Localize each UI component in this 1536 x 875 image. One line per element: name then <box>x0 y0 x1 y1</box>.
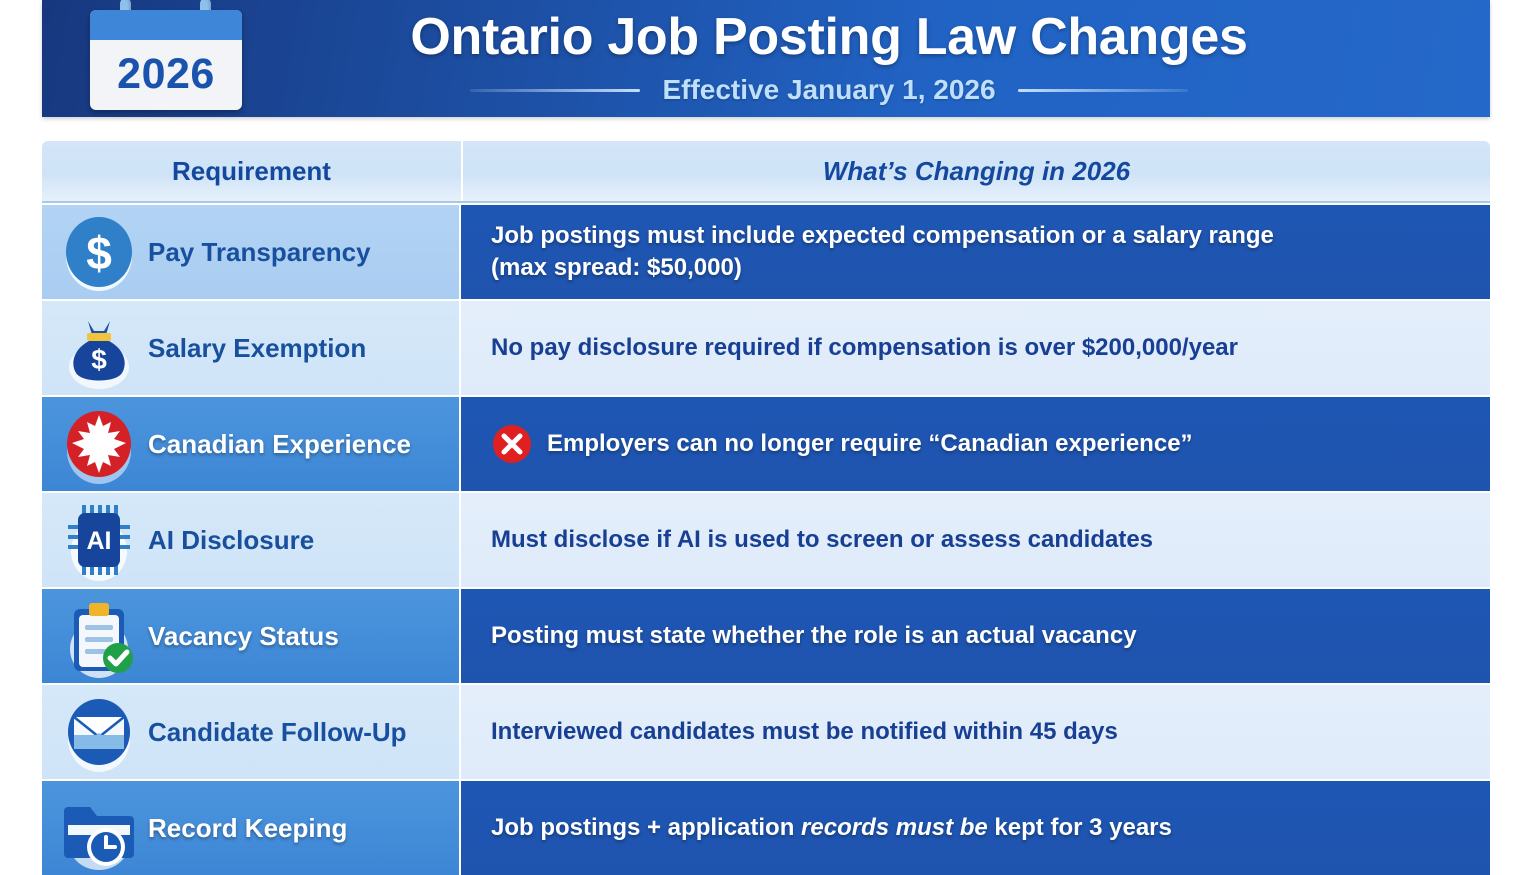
page-subtitle: Effective January 1, 2026 <box>662 74 995 106</box>
requirement-cell: Record Keeping <box>42 781 461 875</box>
red-x-icon <box>491 423 533 465</box>
table-header-row: Requirement What’s Changing in 2026 <box>42 141 1490 203</box>
requirement-cell: $ Pay Transparency <box>42 205 461 299</box>
table-row: $ Pay TransparencyJob postings must incl… <box>42 205 1490 299</box>
requirement-label: AI Disclosure <box>148 526 314 555</box>
table-row: Candidate Follow-UpInterviewed candidate… <box>42 685 1490 779</box>
requirement-cell: Canadian Experience <box>42 397 461 491</box>
change-description-inner: Posting must state whether the role is a… <box>491 620 1137 652</box>
requirement-cell: Vacancy Status <box>42 589 461 683</box>
table-row: Canadian Experience Employers can no lon… <box>42 397 1490 491</box>
calendar-badge: 2026 <box>90 10 242 110</box>
change-description-text: No pay disclosure required if compensati… <box>491 332 1238 364</box>
requirement-label: Vacancy Status <box>148 622 339 651</box>
requirement-label: Record Keeping <box>148 814 347 843</box>
maple-leaf-icon <box>56 401 142 487</box>
calendar-year-label: 2026 <box>90 40 242 110</box>
subtitle-rule-right <box>1018 89 1188 92</box>
change-description-text: Employers can no longer require “Canadia… <box>547 428 1193 460</box>
change-description-text: Must disclose if AI is used to screen or… <box>491 524 1153 556</box>
column-header-requirement-label: Requirement <box>172 156 331 187</box>
change-description-text: Posting must state whether the role is a… <box>491 620 1137 652</box>
change-description-cell: Interviewed candidates must be notified … <box>461 685 1490 779</box>
requirements-table: Requirement What’s Changing in 2026 $ Pa… <box>42 141 1490 875</box>
svg-text:AI: AI <box>87 527 112 555</box>
infographic-page: 2026 Ontario Job Posting Law Changes Eff… <box>0 0 1536 868</box>
change-description-line1: Job postings must include expected compe… <box>491 220 1274 252</box>
table-row: AI AI DisclosureMust disclose if AI is u… <box>42 493 1490 587</box>
change-description-cell: No pay disclosure required if compensati… <box>461 301 1490 395</box>
change-description-text: Interviewed candidates must be notified … <box>491 716 1118 748</box>
change-description-text: Job postings + application records must … <box>491 812 1172 844</box>
table-row: Record KeepingJob postings + application… <box>42 781 1490 875</box>
requirement-cell: Candidate Follow-Up <box>42 685 461 779</box>
requirement-label: Pay Transparency <box>148 238 371 267</box>
requirement-cell: AI AI Disclosure <box>42 493 461 587</box>
requirement-cell: $ Salary Exemption <box>42 301 461 395</box>
change-description-line1: No pay disclosure required if compensati… <box>491 332 1238 364</box>
change-description-line1: Interviewed candidates must be notified … <box>491 716 1118 748</box>
change-description-line2: (max spread: $50,000) <box>491 252 1274 284</box>
change-description-text: Job postings must include expected compe… <box>491 220 1274 283</box>
envelope-icon <box>56 689 142 775</box>
change-description-cell: Must disclose if AI is used to screen or… <box>461 493 1490 587</box>
change-description-inner: Employers can no longer require “Canadia… <box>491 423 1193 465</box>
table-body: $ Pay TransparencyJob postings must incl… <box>42 205 1490 875</box>
change-description-inner: Job postings must include expected compe… <box>491 220 1274 283</box>
page-title: Ontario Job Posting Law Changes <box>410 11 1247 64</box>
svg-text:$: $ <box>86 227 112 279</box>
column-header-requirement: Requirement <box>42 141 463 201</box>
change-description-cell: Posting must state whether the role is a… <box>461 589 1490 683</box>
ai-chip-icon: AI <box>56 497 142 583</box>
clipboard-check-icon <box>56 593 142 679</box>
table-row: Vacancy StatusPosting must state whether… <box>42 589 1490 683</box>
header-banner: 2026 Ontario Job Posting Law Changes Eff… <box>42 0 1490 117</box>
table-row: $ Salary ExemptionNo pay disclosure requ… <box>42 301 1490 395</box>
svg-text:$: $ <box>91 344 107 375</box>
requirement-label: Candidate Follow-Up <box>148 718 407 747</box>
requirement-label: Canadian Experience <box>148 430 411 459</box>
change-description-line1: Job postings + application records must … <box>491 812 1172 844</box>
change-description-inner: Job postings + application records must … <box>491 812 1172 844</box>
change-description-line1: Must disclose if AI is used to screen or… <box>491 524 1153 556</box>
column-header-changes-label: What’s Changing in 2026 <box>823 156 1130 187</box>
change-description-inner: Must disclose if AI is used to screen or… <box>491 524 1153 556</box>
change-description-inner: No pay disclosure required if compensati… <box>491 332 1238 364</box>
subtitle-rule-left <box>470 89 640 92</box>
column-header-changes: What’s Changing in 2026 <box>463 141 1490 201</box>
subtitle-row: Effective January 1, 2026 <box>470 74 1187 106</box>
calendar-icon: 2026 <box>90 10 242 110</box>
requirement-label: Salary Exemption <box>148 334 366 363</box>
change-description-line1: Posting must state whether the role is a… <box>491 620 1137 652</box>
title-block: Ontario Job Posting Law Changes Effectiv… <box>208 11 1450 106</box>
money-bag-icon: $ <box>56 305 142 391</box>
change-description-cell: Employers can no longer require “Canadia… <box>461 397 1490 491</box>
change-description-line1: Employers can no longer require “Canadia… <box>547 428 1193 460</box>
calendar-header-strip <box>90 10 242 40</box>
change-description-cell: Job postings + application records must … <box>461 781 1490 875</box>
change-description-cell: Job postings must include expected compe… <box>461 205 1490 299</box>
change-description-inner: Interviewed candidates must be notified … <box>491 716 1118 748</box>
folder-clock-icon <box>56 785 142 871</box>
dollar-circle-icon: $ <box>56 209 142 295</box>
